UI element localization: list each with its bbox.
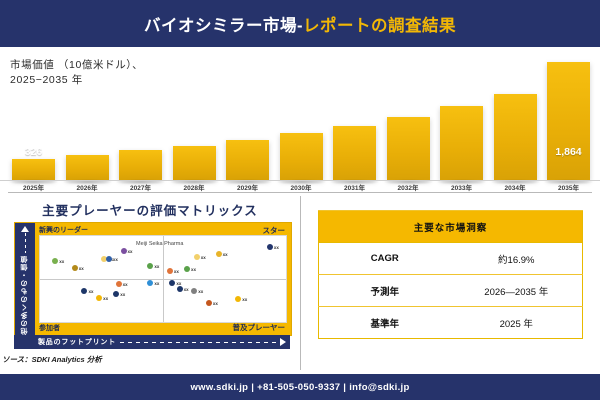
chart-bottom-rule bbox=[8, 192, 592, 193]
insights-table: 主要な市場洞察 CAGR約16.9%予測年2026—2035 年基準年2025 … bbox=[318, 210, 583, 339]
chart-bar[interactable]: 1,864 bbox=[547, 62, 590, 180]
insights-row-value: 2026—2035 年 bbox=[451, 275, 583, 307]
x-axis-tick-label: 2029年 bbox=[226, 182, 269, 192]
dashed-line-icon bbox=[25, 233, 26, 253]
chart-bar[interactable] bbox=[280, 133, 323, 180]
chart-bar[interactable] bbox=[173, 146, 216, 180]
arrow-right-icon bbox=[280, 338, 286, 346]
matrix-data-point[interactable] bbox=[113, 291, 119, 297]
matrix-data-point-label: xx bbox=[201, 255, 206, 260]
page-header: バイオシミラー市場-レポートの調査結果 bbox=[0, 0, 600, 47]
matrix-data-point-label: xx bbox=[274, 245, 279, 250]
matrix-data-point-label: xx bbox=[154, 281, 159, 286]
chart-bar[interactable] bbox=[387, 117, 430, 180]
insights-row-value: 2025 年 bbox=[451, 307, 583, 339]
source-text: ：SDKI Analytics 分析 bbox=[24, 355, 102, 364]
matrix-data-point[interactable] bbox=[147, 263, 153, 269]
matrix-data-point[interactable] bbox=[216, 251, 222, 257]
dashed-line-icon bbox=[120, 342, 276, 343]
table-row: 予測年2026—2035 年 bbox=[319, 275, 583, 307]
footer-contact-text[interactable]: www.sdki.jp | +81-505-050-9337 | info@sd… bbox=[190, 382, 409, 393]
matrix-y-axis: 他の多くのもの・価値 bbox=[15, 223, 35, 335]
bar-slot bbox=[119, 55, 162, 180]
matrix-data-point[interactable] bbox=[169, 280, 175, 286]
bar-slot: 1,864 bbox=[547, 55, 590, 180]
matrix-horizontal-gridline bbox=[40, 279, 286, 280]
bar-chart-plot: 3261,864 bbox=[12, 55, 590, 180]
x-axis-tick-label: 2025年 bbox=[12, 182, 55, 192]
chart-bar[interactable] bbox=[226, 140, 269, 180]
source-note: ソース：SDKI Analytics 分析 bbox=[2, 354, 102, 365]
bar-slot bbox=[226, 55, 269, 180]
table-row: 基準年2025 年 bbox=[319, 307, 583, 339]
matrix-data-point[interactable] bbox=[147, 280, 153, 286]
chart-bar[interactable] bbox=[333, 126, 376, 180]
matrix-x-axis-label: 製品のフットプリント bbox=[38, 337, 116, 347]
chart-bar[interactable] bbox=[66, 155, 109, 180]
bar-slot: 326 bbox=[12, 55, 55, 180]
x-axis-tick-label: 2030年 bbox=[280, 182, 323, 192]
source-prefix: ソース bbox=[2, 355, 24, 364]
matrix-x-axis: 製品のフットプリント bbox=[14, 335, 290, 349]
matrix-data-point-label: xx bbox=[128, 249, 133, 254]
matrix-data-point-label: xx bbox=[174, 269, 179, 274]
matrix-data-point-label: xx bbox=[79, 266, 84, 271]
matrix-data-point-label: xx bbox=[242, 297, 247, 302]
matrix-y-axis-label: 他の多くのもの・価値 bbox=[20, 255, 30, 335]
chart-axis-line bbox=[0, 180, 600, 181]
chart-axis-labels: 2025年2026年2027年2028年2029年2030年2031年2032年… bbox=[12, 182, 590, 192]
bar-slot bbox=[280, 55, 323, 180]
page-title-accent: レポートの調査結果 bbox=[303, 17, 456, 35]
bar-value-label: 1,864 bbox=[547, 146, 590, 158]
matrix-data-point-label: xx bbox=[223, 252, 228, 257]
bar-chart-panel: 市場価値 （10億米ドル）、 2025−2035 年 3261,864 2025… bbox=[0, 47, 600, 195]
matrix-data-point-label: xx bbox=[198, 289, 203, 294]
matrix-data-point[interactable] bbox=[72, 265, 78, 271]
chart-bar[interactable] bbox=[119, 150, 162, 180]
matrix-data-point[interactable] bbox=[106, 256, 112, 262]
x-axis-tick-label: 2027年 bbox=[119, 182, 162, 192]
bar-slot bbox=[440, 55, 483, 180]
matrix-data-point-label: xx bbox=[213, 301, 218, 306]
matrix-box: 他の多くのもの・価値 新興のリーダー スター 参加者 普及プレーヤー Meiji… bbox=[14, 222, 292, 336]
insights-row-key: CAGR bbox=[319, 243, 451, 275]
matrix-data-point-label: xx bbox=[154, 264, 159, 269]
quadrant-label-emerging-leader: 新興のリーダー bbox=[39, 225, 88, 235]
x-axis-tick-label: 2031年 bbox=[333, 182, 376, 192]
matrix-data-point[interactable] bbox=[194, 254, 200, 260]
bar-slot bbox=[173, 55, 216, 180]
matrix-data-point[interactable] bbox=[96, 295, 102, 301]
matrix-data-point-label: xx bbox=[184, 287, 189, 292]
matrix-data-point[interactable] bbox=[267, 244, 273, 250]
matrix-data-point-label: xx bbox=[191, 267, 196, 272]
chart-bar[interactable] bbox=[440, 106, 483, 180]
matrix-data-point-label: xx bbox=[123, 282, 128, 287]
insights-row-key: 基準年 bbox=[319, 307, 451, 339]
page-title-main: バイオシミラー市場- bbox=[144, 17, 303, 35]
bar-slot bbox=[333, 55, 376, 180]
page-title: バイオシミラー市場-レポートの調査結果 bbox=[144, 12, 456, 36]
matrix-data-point[interactable] bbox=[177, 286, 183, 292]
matrix-data-point-label: xx bbox=[176, 281, 181, 286]
matrix-data-point[interactable] bbox=[191, 288, 197, 294]
matrix-highlight-label: Meiji Seika Pharma bbox=[136, 241, 183, 247]
matrix-title: 主要プレーヤーの評価マトリックス bbox=[0, 200, 300, 219]
matrix-data-point-label: xx bbox=[103, 296, 108, 301]
x-axis-tick-label: 2026年 bbox=[66, 182, 109, 192]
page-footer: www.sdki.jp | +81-505-050-9337 | info@sd… bbox=[0, 374, 600, 400]
insights-row-key: 予測年 bbox=[319, 275, 451, 307]
matrix-data-point-label: xx bbox=[88, 289, 93, 294]
x-axis-tick-label: 2035年 bbox=[547, 182, 590, 192]
matrix-data-point-label: xx bbox=[59, 259, 64, 264]
bar-slot bbox=[494, 55, 537, 180]
matrix-panel: 主要プレーヤーの評価マトリックス 他の多くのもの・価値 新興のリーダー スター … bbox=[0, 196, 300, 374]
insights-panel: 主要な市場洞察 CAGR約16.9%予測年2026—2035 年基準年2025 … bbox=[301, 196, 600, 374]
x-axis-tick-label: 2032年 bbox=[387, 182, 430, 192]
bar-slot bbox=[387, 55, 430, 180]
arrow-up-icon bbox=[21, 226, 29, 232]
x-axis-tick-label: 2034年 bbox=[494, 182, 537, 192]
bar-slot bbox=[66, 55, 109, 180]
matrix-data-point[interactable] bbox=[81, 288, 87, 294]
chart-bar[interactable] bbox=[494, 94, 537, 180]
matrix-data-point[interactable] bbox=[235, 296, 241, 302]
x-axis-tick-label: 2028年 bbox=[173, 182, 216, 192]
matrix-data-point[interactable] bbox=[52, 258, 58, 264]
matrix-data-point[interactable] bbox=[121, 248, 127, 254]
matrix-data-point[interactable] bbox=[167, 268, 173, 274]
matrix-data-point-label: xx bbox=[120, 292, 125, 297]
bar-value-label: 326 bbox=[12, 146, 55, 158]
quadrant-label-participant: 参加者 bbox=[39, 323, 60, 333]
matrix-scatter-area: Meiji Seika Pharma xxxxxxxxxxxxxxxxxxxxx… bbox=[39, 235, 287, 323]
insights-table-header: 主要な市場洞察 bbox=[319, 211, 583, 243]
matrix-data-point-label: xx bbox=[113, 257, 118, 262]
quadrant-label-pervasive-player: 普及プレーヤー bbox=[233, 322, 286, 333]
insights-row-value: 約16.9% bbox=[451, 243, 583, 275]
chart-bar[interactable]: 326 bbox=[12, 159, 55, 180]
matrix-data-point[interactable] bbox=[184, 266, 190, 272]
matrix-data-point[interactable] bbox=[116, 281, 122, 287]
matrix-data-point[interactable] bbox=[206, 300, 212, 306]
table-row: CAGR約16.9% bbox=[319, 243, 583, 275]
x-axis-tick-label: 2033年 bbox=[440, 182, 483, 192]
